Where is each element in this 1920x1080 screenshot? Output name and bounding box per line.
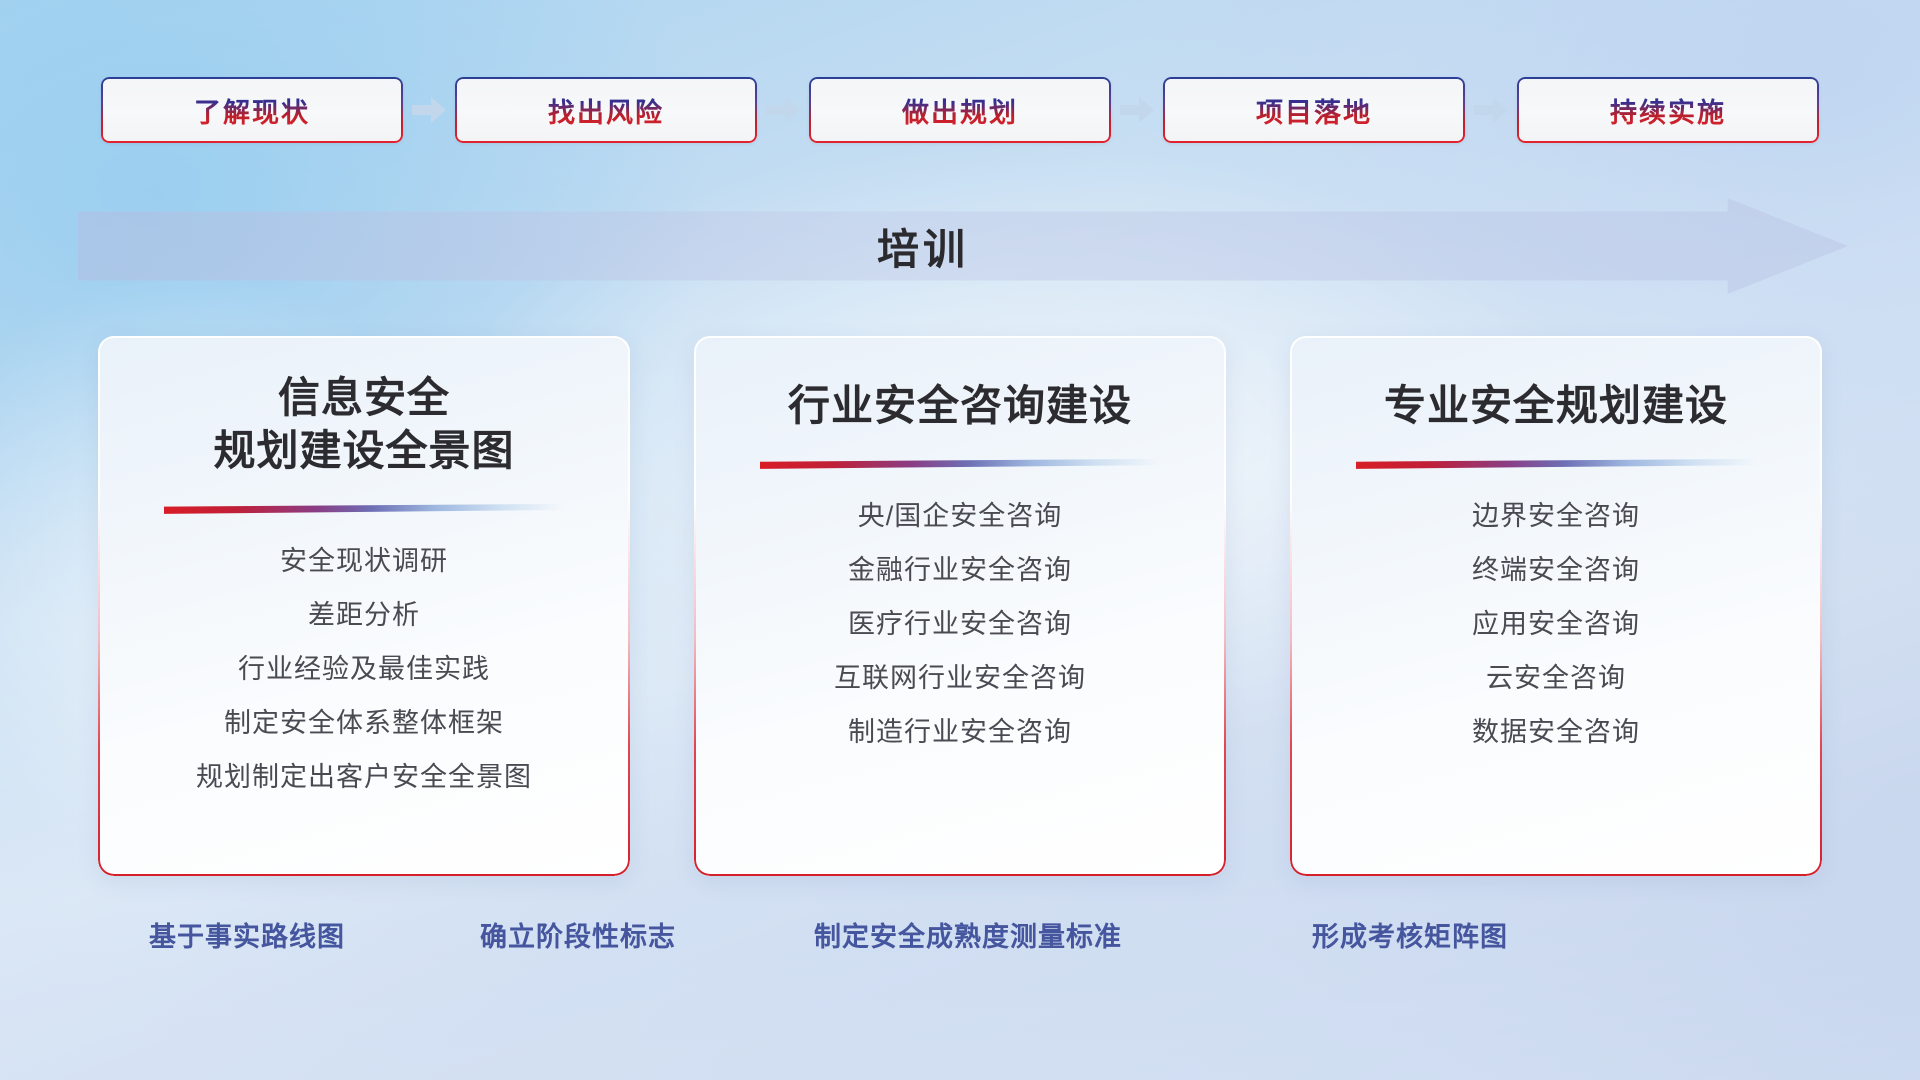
process-step-2[interactable]: 找出风险 — [455, 77, 757, 143]
process-step-2-label: 找出风险 — [548, 91, 664, 130]
card-1-list-item-1: 安全现状调研 — [134, 548, 594, 575]
process-step-5-label: 持续实施 — [1610, 91, 1726, 130]
footer-label-4: 形成考核矩阵图 — [1312, 915, 1508, 954]
card-3-title: 专业安全规划建设 — [1384, 380, 1728, 433]
process-step-1[interactable]: 了解现状 — [101, 77, 403, 143]
process-step-4[interactable]: 项目落地 — [1163, 77, 1465, 143]
content-card-2[interactable]: 行业安全咨询建设 央/国企安全咨询 金融行业安全咨询 医疗行业安全咨询 互联网行… — [694, 336, 1226, 876]
footer-label-row: 基于事实路线图 确立阶段性标志 制定安全成熟度测量标准 形成考核矩阵图 — [0, 915, 1920, 965]
training-arrow-band: 培训 — [78, 198, 1848, 294]
process-step-3[interactable]: 做出规划 — [809, 77, 1111, 143]
content-card-row: 信息安全 规划建设全景图 安全现状调研 差距分析 行业经验及最佳实践 制定安全体… — [0, 336, 1920, 881]
content-card-3[interactable]: 专业安全规划建设 边界安全咨询 终端安全咨询 应用安全咨询 云安全咨询 数据安全… — [1290, 336, 1822, 876]
card-wrap-2: 行业安全咨询建设 央/国企安全咨询 金融行业安全咨询 医疗行业安全咨询 互联网行… — [694, 336, 1226, 876]
card-1-title: 信息安全 规划建设全景图 — [213, 372, 514, 478]
card-1-divider — [164, 504, 564, 514]
card-3-list-item-4: 云安全咨询 — [1326, 665, 1786, 692]
card-3-list-item-3: 应用安全咨询 — [1326, 611, 1786, 638]
card-2-list-item-2: 金融行业安全咨询 — [730, 557, 1190, 584]
card-1-list-item-2: 差距分析 — [134, 602, 594, 629]
card-3-list-item-1: 边界安全咨询 — [1326, 503, 1786, 530]
process-step-1-label: 了解现状 — [194, 91, 310, 130]
process-step-4-label: 项目落地 — [1256, 91, 1372, 130]
card-3-list: 边界安全咨询 终端安全咨询 应用安全咨询 云安全咨询 数据安全咨询 — [1326, 503, 1786, 746]
step-arrow-icon-1 — [403, 90, 455, 130]
card-2-list-item-1: 央/国企安全咨询 — [730, 503, 1190, 530]
card-3-list-item-5: 数据安全咨询 — [1326, 719, 1786, 746]
footer-label-1: 基于事实路线图 — [149, 915, 345, 954]
footer-label-3: 制定安全成熟度测量标准 — [814, 915, 1122, 954]
card-3-list-item-2: 终端安全咨询 — [1326, 557, 1786, 584]
card-2-list: 央/国企安全咨询 金融行业安全咨询 医疗行业安全咨询 互联网行业安全咨询 制造行… — [730, 503, 1190, 746]
card-2-list-item-3: 医疗行业安全咨询 — [730, 611, 1190, 638]
card-1-list-item-4: 制定安全体系整体框架 — [134, 710, 594, 737]
card-2-list-item-4: 互联网行业安全咨询 — [730, 665, 1190, 692]
process-step-3-label: 做出规划 — [902, 91, 1018, 130]
process-step-row: 了解现状 找出风险 做出规划 项目落地 — [0, 72, 1920, 148]
card-1-list-item-5: 规划制定出客户安全全景图 — [134, 764, 594, 791]
slide-canvas: 了解现状 找出风险 做出规划 项目落地 — [0, 0, 1920, 1080]
card-1-list-item-3: 行业经验及最佳实践 — [134, 656, 594, 683]
training-band-label: 培训 — [877, 216, 969, 277]
card-wrap-1: 信息安全 规划建设全景图 安全现状调研 差距分析 行业经验及最佳实践 制定安全体… — [98, 336, 630, 876]
step-arrow-icon-2 — [757, 90, 809, 130]
card-2-list-item-5: 制造行业安全咨询 — [730, 719, 1190, 746]
card-wrap-3: 专业安全规划建设 边界安全咨询 终端安全咨询 应用安全咨询 云安全咨询 数据安全… — [1290, 336, 1822, 876]
step-arrow-icon-3 — [1111, 90, 1163, 130]
card-1-list: 安全现状调研 差距分析 行业经验及最佳实践 制定安全体系整体框架 规划制定出客户… — [134, 548, 594, 791]
card-2-divider — [760, 459, 1160, 469]
card-3-divider — [1356, 459, 1756, 469]
step-arrow-icon-4 — [1465, 90, 1517, 130]
card-2-title: 行业安全咨询建设 — [788, 380, 1132, 433]
content-card-1[interactable]: 信息安全 规划建设全景图 安全现状调研 差距分析 行业经验及最佳实践 制定安全体… — [98, 336, 630, 876]
footer-label-2: 确立阶段性标志 — [480, 915, 676, 954]
process-step-5[interactable]: 持续实施 — [1517, 77, 1819, 143]
